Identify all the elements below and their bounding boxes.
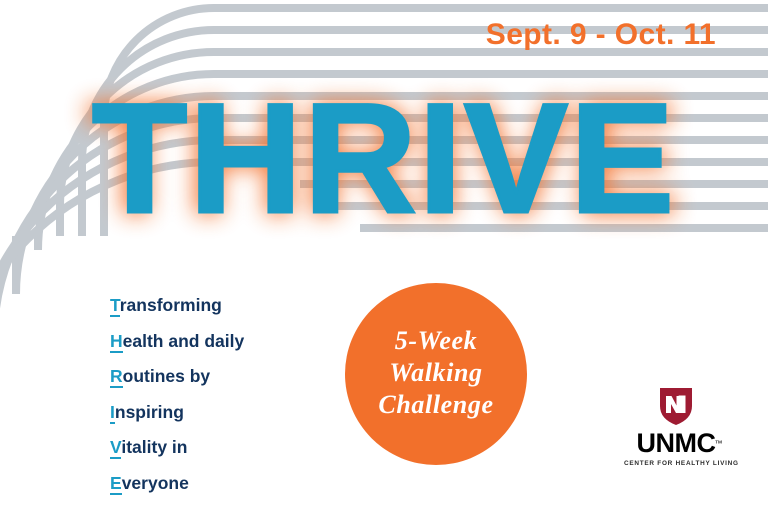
thrive-wordmark: THRIVE THRIVE [0,78,768,248]
unmc-logo: UNMC™ CENTER FOR HEALTHY LIVING [624,386,728,467]
acronym-initial: V [110,437,121,459]
acronym-initial: R [110,366,123,388]
acronym-list: Transforming Health and daily Routines b… [110,292,360,505]
unmc-n-shield-icon [658,386,694,426]
badge-line-2: Walking [378,357,493,389]
unmc-tagline: CENTER FOR HEALTHY LIVING [624,460,728,467]
acronym-rest: ealth and daily [123,331,245,351]
acronym-rest: nspiring [115,402,184,422]
acronym-initial: E [110,473,122,495]
acronym-row: Vitality in [110,434,360,461]
unmc-wordmark: UNMC™ [637,429,716,457]
acronym-rest: outines by [123,366,211,386]
acronym-rest: itality in [121,437,187,457]
shield-holder [624,386,728,426]
acronym-row: Inspiring [110,399,360,426]
acronym-initial: T [110,295,120,317]
date-range-text: Sept. 9 - Oct. 11 [486,18,716,52]
acronym-rest: ransforming [120,295,222,315]
acronym-initial: H [110,331,123,353]
acronym-row: Health and daily [110,328,360,355]
acronym-row: Routines by [110,363,360,390]
trademark-symbol: ™ [715,430,723,458]
challenge-badge: 5-Week Walking Challenge [345,283,527,465]
acronym-row: Everyone [110,470,360,497]
acronym-rest: veryone [122,473,189,493]
challenge-badge-text: 5-Week Walking Challenge [378,325,493,423]
unmc-wordmark-text: UNMC [637,428,716,458]
thrive-headline-text: THRIVE [0,78,768,240]
badge-line-3: Challenge [378,389,493,421]
badge-line-1: 5-Week [378,325,493,357]
acronym-row: Transforming [110,292,360,319]
thrive-promo-poster: Sept. 9 - Oct. 11 THRIVE THRIVE Transfor… [0,0,768,512]
